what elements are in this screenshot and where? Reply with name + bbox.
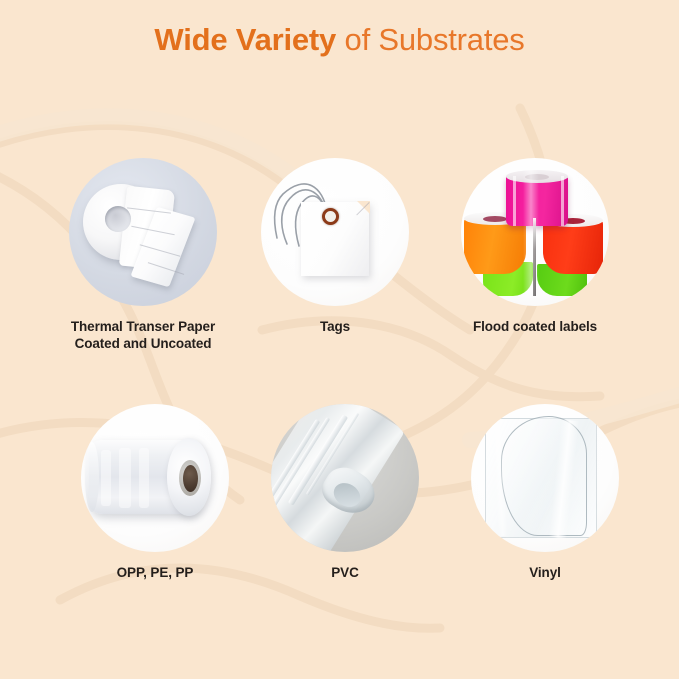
substrates-infographic: Wide Variety of Substrates Thermal Trans… (0, 0, 679, 679)
clear-vinyl-sheet-icon (471, 404, 619, 552)
item-thermal-transfer-paper: Thermal Transer Paper Coated and Uncoate… (43, 158, 243, 353)
disc-holder (81, 404, 229, 552)
item-label-line1: PVC (245, 564, 445, 581)
item-label: Vinyl (445, 564, 645, 581)
product-disc-tags (261, 158, 409, 306)
disc-holder (271, 404, 419, 552)
product-disc-vinyl (471, 404, 619, 552)
clear-pvc-sheet-icon (271, 404, 419, 552)
item-vinyl: Vinyl (445, 404, 645, 581)
disc-holder (69, 158, 217, 306)
item-flood-coated-labels: Flood coated labels (435, 158, 635, 335)
grommet-icon (322, 208, 339, 225)
fluorescent-label-rolls-icon (461, 158, 609, 306)
item-label-line1: Tags (235, 318, 435, 335)
film-roll-icon (81, 404, 229, 552)
page-title: Wide Variety of Substrates (0, 24, 679, 55)
item-label: Tags (235, 318, 435, 335)
item-label: OPP, PE, PP (55, 564, 255, 581)
item-label-line1: Flood coated labels (435, 318, 635, 335)
label-roll-icon (69, 158, 217, 306)
title-light: of Substrates (336, 22, 524, 57)
disc-holder (471, 404, 619, 552)
item-opp-pe-pp: OPP, PE, PP (55, 404, 255, 581)
item-tags: Tags (235, 158, 435, 335)
disc-holder (461, 158, 609, 306)
item-label-line2: Coated and Uncoated (43, 335, 243, 352)
product-disc-flood (461, 158, 609, 306)
item-label-line1: Vinyl (445, 564, 645, 581)
item-label-line1: Thermal Transer Paper (43, 318, 243, 335)
title-strong: Wide Variety (154, 22, 336, 57)
item-label: Thermal Transer Paper Coated and Uncoate… (43, 318, 243, 353)
shipping-tag-icon (261, 158, 409, 306)
disc-holder (261, 158, 409, 306)
item-pvc: PVC (245, 404, 445, 581)
item-label: PVC (245, 564, 445, 581)
product-disc-opp (81, 404, 229, 552)
product-disc-thermal (69, 158, 217, 306)
product-disc-pvc (271, 404, 419, 552)
item-label-line1: OPP, PE, PP (55, 564, 255, 581)
item-label: Flood coated labels (435, 318, 635, 335)
